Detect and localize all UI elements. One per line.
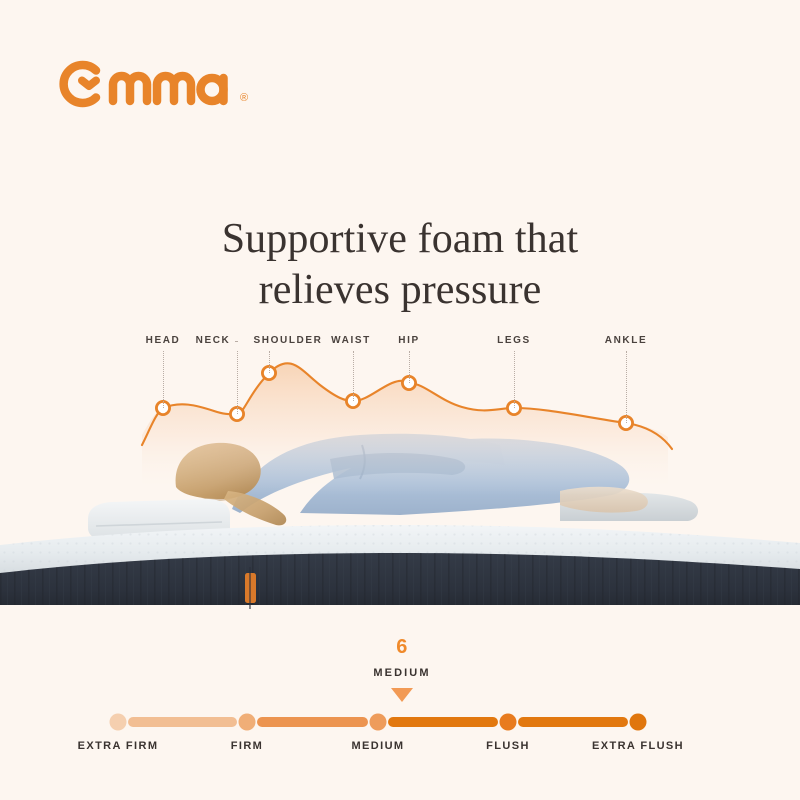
registered-trademark-symbol: ® (240, 93, 248, 104)
scale-dot-flush[interactable] (500, 714, 517, 731)
scale-label-firm: FIRM (231, 740, 263, 752)
scale-label-flush: FLUSH (486, 740, 530, 752)
scale-segment-3 (518, 717, 628, 727)
firmness-value: 6 (396, 636, 408, 659)
pressure-curve-chart (0, 325, 800, 610)
pressure-label-hip: HIP (398, 335, 419, 346)
pressure-label-neck: NECK (196, 335, 231, 346)
emma-wordmark-icon (52, 58, 237, 110)
scale-label-extra-flush: EXTRA FLUSH (592, 740, 684, 752)
leader-line-head (163, 351, 164, 408)
scale-dot-firm[interactable] (239, 714, 256, 731)
scale-dot-extra-firm[interactable] (110, 714, 127, 731)
leader-line-waist (353, 351, 354, 401)
leader-line-legs (514, 351, 515, 408)
firmness-scale-bar[interactable] (0, 710, 800, 734)
page-headline: Supportive foam that relieves pressure (0, 214, 800, 315)
pressure-point-diagram: HEADNECKSHOULDERWAISTHIPLEGSANKLE (0, 325, 800, 610)
pressure-label-head: HEAD (146, 335, 181, 346)
emma-logo: ® (52, 58, 248, 110)
scale-segment-1 (257, 717, 368, 727)
pressure-label-waist: WAIST (331, 335, 371, 346)
leader-dash-neck (235, 341, 237, 342)
scale-segment-2 (388, 717, 498, 727)
scale-dot-extra-flush[interactable] (630, 714, 647, 731)
pressure-label-ankle: ANKLE (605, 335, 647, 346)
leader-line-ankle (626, 351, 627, 423)
pressure-label-legs: LEGS (497, 335, 531, 346)
leader-line-hip (409, 351, 410, 383)
firmness-scale: 6 MEDIUM EXTRA FIRMFIRMMEDIUMFLUSHEXTRA … (0, 636, 800, 766)
scale-segment-0 (128, 717, 237, 727)
scale-label-extra-firm: EXTRA FIRM (78, 740, 159, 752)
headline-line-2: relieves pressure (0, 265, 800, 315)
scale-label-medium: MEDIUM (351, 740, 404, 752)
scale-dot-medium[interactable] (370, 714, 387, 731)
leader-line-neck (237, 351, 238, 414)
firmness-value-label: MEDIUM (373, 667, 430, 679)
firmness-pointer-icon (391, 688, 413, 702)
pressure-label-shoulder: SHOULDER (254, 335, 323, 346)
leader-line-shoulder (269, 351, 270, 373)
headline-line-1: Supportive foam that (222, 216, 579, 262)
infographic-canvas: ® Supportive foam that relieves pressure (0, 0, 800, 800)
